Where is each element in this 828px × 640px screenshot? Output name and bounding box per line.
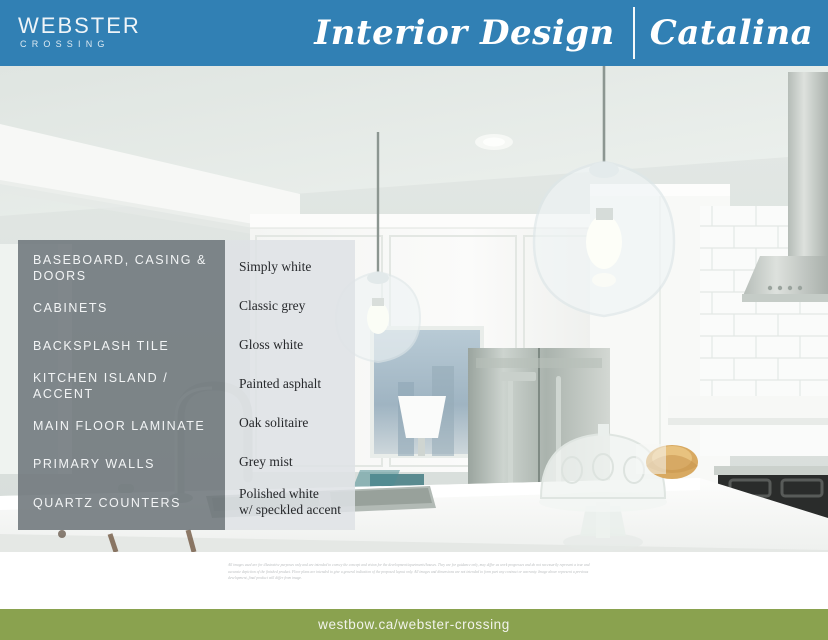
spec-value-row: Oak solitaire	[239, 408, 355, 438]
brand-logo[interactable]: WEBSTER CROSSING	[0, 14, 300, 51]
spec-label-row: Quartz counters	[33, 488, 225, 518]
spec-value-main-floor-laminate: Oak solitaire	[239, 415, 308, 431]
spec-label-primary-walls: Primary walls	[33, 456, 155, 472]
spec-label-row: Backsplash tile	[33, 331, 225, 361]
spec-label-kitchen-island-accent: Kitchen island / accent	[33, 370, 225, 402]
spec-value-baseboard-casing-doors: Simply white	[239, 259, 311, 275]
spec-value-column: Simply white Classic grey Gloss white Pa…	[225, 240, 355, 530]
spec-value-backsplash-tile: Gloss white	[239, 337, 303, 353]
spec-value-row: Gloss white	[239, 330, 355, 360]
spec-label-quartz-counters: Quartz counters	[33, 495, 181, 511]
spec-value-row: Polished white w/ speckled accent	[239, 486, 355, 518]
spec-label-column: Baseboard, casing & doors Cabinets Backs…	[18, 240, 225, 530]
spec-label-cabinets: Cabinets	[33, 300, 108, 316]
spec-label-baseboard-casing-doors: Baseboard, casing & doors	[33, 252, 225, 284]
spec-value-row: Simply white	[239, 252, 355, 282]
website-url[interactable]: westbow.ca/webster-crossing	[318, 617, 510, 632]
spec-label-row: Baseboard, casing & doors	[33, 252, 225, 284]
header-title-group: Interior Design Catalina	[300, 0, 828, 66]
spec-value-row: Classic grey	[239, 291, 355, 321]
logo-subtitle: CROSSING	[18, 37, 300, 51]
page-footer: westbow.ca/webster-crossing	[0, 609, 828, 640]
marketing-sheet: WEBSTER CROSSING Interior Design Catalin…	[0, 0, 828, 640]
logo-wordmark: WEBSTER	[18, 14, 300, 37]
spec-label-main-floor-laminate: Main floor laminate	[33, 418, 205, 434]
spec-label-row: Primary walls	[33, 449, 225, 479]
spec-value-row: Grey mist	[239, 447, 355, 477]
spec-label-backsplash-tile: Backsplash tile	[33, 338, 169, 354]
title-divider	[633, 7, 635, 59]
spec-label-row: Kitchen island / accent	[33, 370, 225, 402]
plan-name-title: Catalina	[635, 16, 828, 50]
legal-disclaimer: All images used are for illustrative pur…	[228, 562, 600, 582]
spec-label-row: Main floor laminate	[33, 411, 225, 441]
spec-label-row: Cabinets	[33, 293, 225, 323]
spec-value-cabinets: Classic grey	[239, 298, 305, 314]
spec-value-quartz-counters: Polished white w/ speckled accent	[239, 486, 341, 518]
page-title: Interior Design	[300, 16, 633, 50]
spec-value-primary-walls: Grey mist	[239, 454, 293, 470]
page-header: WEBSTER CROSSING Interior Design Catalin…	[0, 0, 828, 66]
spec-value-row: Painted asphalt	[239, 369, 355, 399]
finishes-spec-panel: Baseboard, casing & doors Cabinets Backs…	[18, 240, 355, 530]
spec-value-kitchen-island-accent: Painted asphalt	[239, 376, 321, 392]
